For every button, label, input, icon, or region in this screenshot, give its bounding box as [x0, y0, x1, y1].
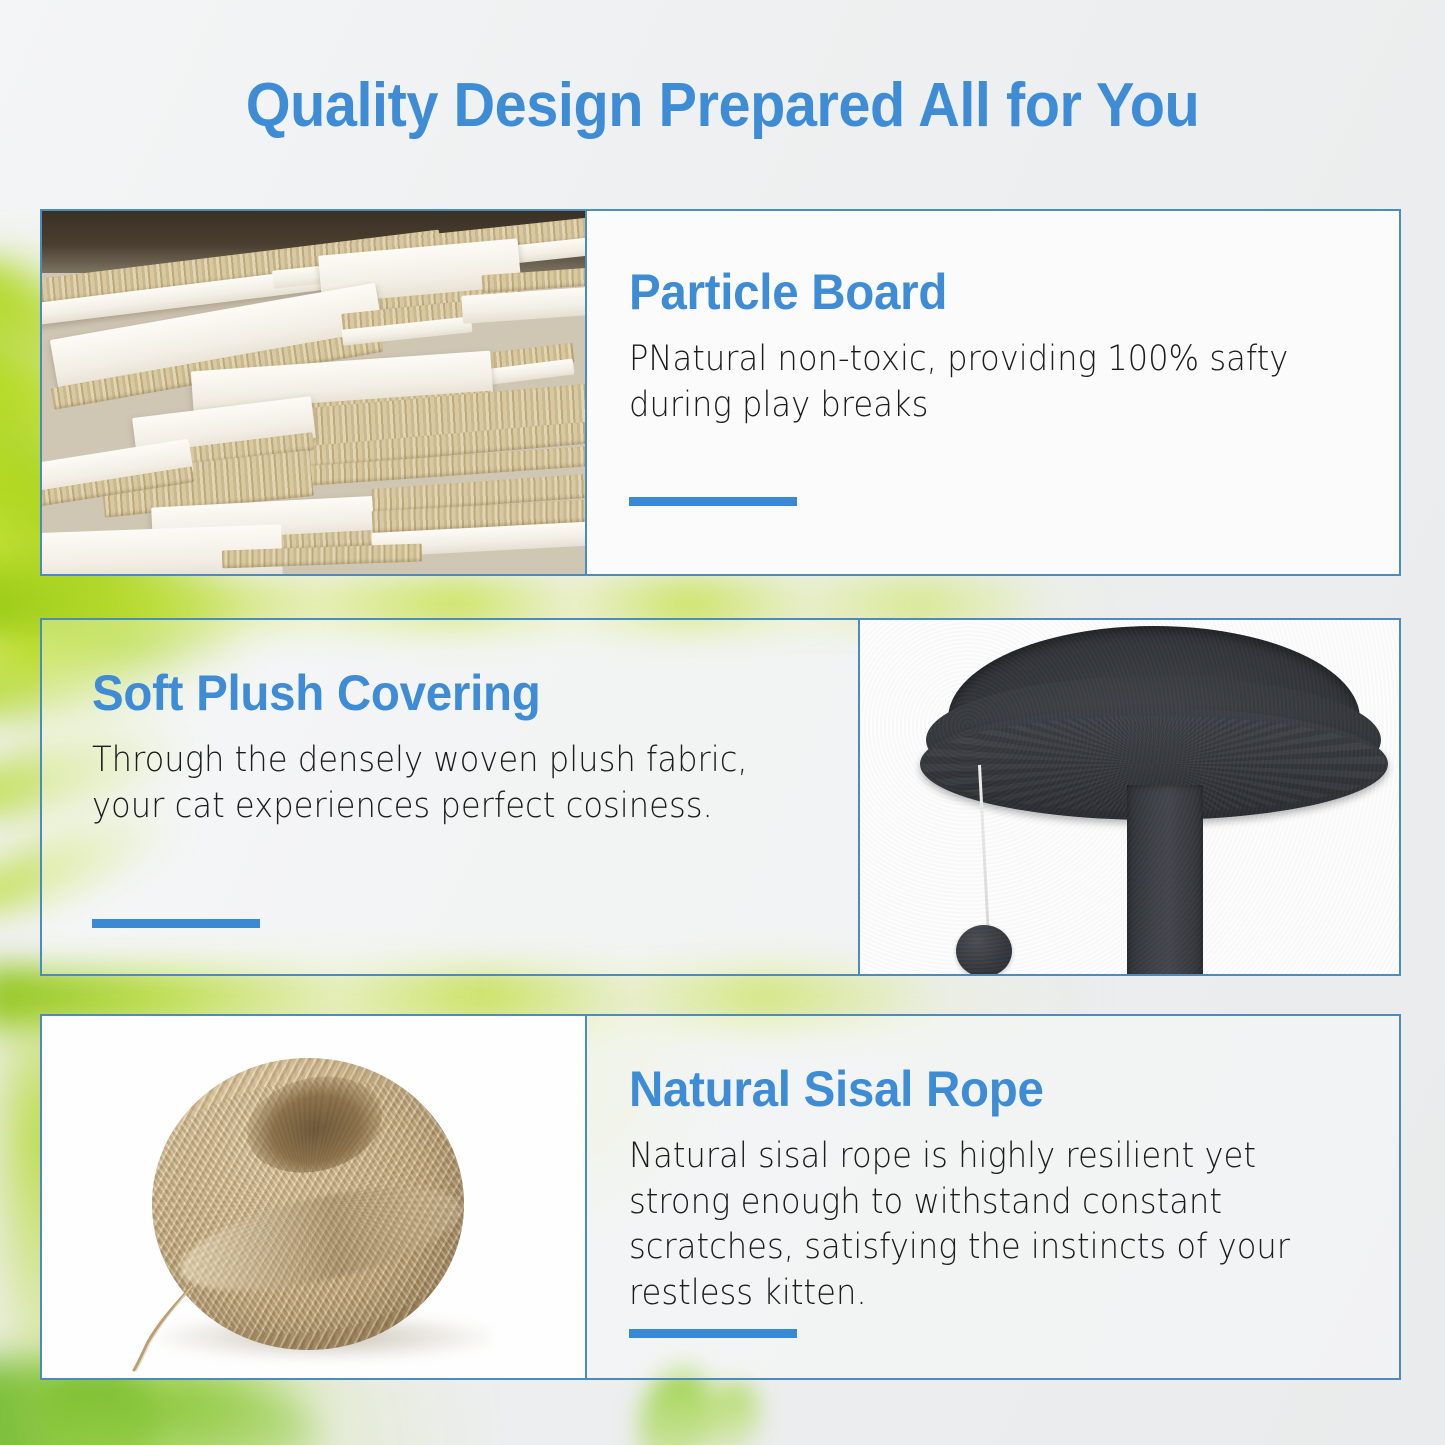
card-body-text: PNatural non-toxic, providing 100% safty… — [629, 337, 1295, 428]
plush-cat-perch-photo — [860, 620, 1399, 974]
feature-card-particle-board: Particle Board PNatural non-toxic, provi… — [40, 209, 1401, 576]
card-heading: Natural Sisal Rope — [629, 1060, 1317, 1118]
card-text-panel: Particle Board PNatural non-toxic, provi… — [585, 211, 1399, 574]
particle-board-image — [42, 211, 585, 574]
feature-card-soft-plush-covering: Soft Plush Covering Through the densely … — [40, 618, 1401, 976]
loose-rope-strand — [114, 1284, 200, 1372]
infographic-page: Quality Design Prepared All for You — [0, 0, 1445, 1445]
accent-underline-bar — [92, 919, 260, 928]
card-text-panel: Soft Plush Covering Through the densely … — [42, 620, 860, 974]
sisal-ball-image — [42, 1016, 585, 1378]
perch-support-post — [1127, 785, 1203, 974]
cat-perch-image — [860, 620, 1399, 974]
sisal-rope-ball-photo — [42, 1016, 585, 1378]
particle-board-photo — [42, 211, 585, 574]
card-heading: Soft Plush Covering — [92, 664, 776, 722]
feature-card-natural-sisal-rope: Natural Sisal Rope Natural sisal rope is… — [40, 1014, 1401, 1380]
accent-underline-bar — [629, 497, 797, 506]
pom-pom-toy — [956, 925, 1012, 974]
accent-underline-bar — [629, 1329, 797, 1338]
grass-leaf-decoration — [688, 1372, 770, 1445]
page-title: Quality Design Prepared All for You — [51, 70, 1395, 141]
card-body-text: Through the densely woven plush fabric, … — [92, 738, 754, 829]
card-heading: Particle Board — [629, 263, 1317, 321]
card-text-panel: Natural Sisal Rope Natural sisal rope is… — [585, 1016, 1399, 1378]
grass-leaf-decoration — [135, 1370, 324, 1445]
card-body-text: Natural sisal rope is highly resilient y… — [629, 1134, 1295, 1316]
